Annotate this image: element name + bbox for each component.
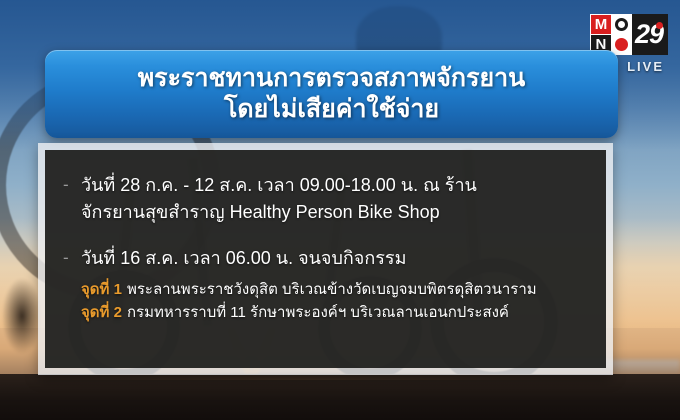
bullet-1-line-2: จักรยานสุขสำราญ Healthy Person Bike Shop [81, 199, 477, 226]
point-2-text: กรมทหารราบที่ 11 รักษาพระองค์ฯ บริเวณลาน… [127, 304, 509, 321]
logo-o-dot-red-icon [615, 38, 628, 51]
bullet-dash-icon: - [63, 172, 81, 198]
title-banner: พระราชทานการตรวจสภาพจักรยาน โดยไม่เสียค่… [45, 50, 618, 138]
logo-o-ring-black-icon [615, 18, 628, 31]
bullet-1-line-1: วันที่ 28 ก.ค. - 12 ส.ค. เวลา 09.00-18.0… [81, 172, 477, 199]
title-line-2: โดยไม่เสียค่าใช้จ่าย [224, 94, 439, 125]
info-panel-frame: - วันที่ 28 ก.ค. - 12 ส.ค. เวลา 09.00-18… [38, 143, 613, 375]
info-panel: - วันที่ 28 ก.ค. - 12 ส.ค. เวลา 09.00-18… [45, 150, 606, 368]
bullet-dash-icon: - [63, 245, 81, 271]
title-line-1: พระราชทานการตรวจสภาพจักรยาน [138, 63, 526, 94]
logo-red-dot-icon [656, 22, 663, 29]
logo-letter-o-bottom [612, 35, 632, 54]
point-item-1: จุดที่ 1พระลานพระราชวังดุสิต บริเวณข้างว… [81, 278, 588, 301]
mono-letter-grid: M N [590, 14, 633, 55]
logo-letter-m: M [591, 15, 611, 34]
bullet-2-line-1: วันที่ 16 ส.ค. เวลา 06.00 น. จนจบกิจกรรม [81, 245, 406, 272]
point-1-label: จุดที่ 1 [81, 281, 122, 298]
logo-number-29: 29 [632, 14, 668, 55]
bullet-spacer [63, 233, 588, 245]
bullet-item: - วันที่ 16 ส.ค. เวลา 06.00 น. จนจบกิจกร… [63, 245, 588, 272]
point-1-text: พระลานพระราชวังดุสิต บริเวณข้างวัดเบญจมบ… [127, 281, 537, 298]
logo-letter-o-top [612, 15, 632, 34]
point-item-2: จุดที่ 2กรมทหารราบที่ 11 รักษาพระองค์ฯ บ… [81, 301, 588, 324]
bullet-item: - วันที่ 28 ก.ค. - 12 ส.ค. เวลา 09.00-18… [63, 172, 588, 227]
broadcast-screen: M N 29 LIVE พระราชทานการตรวจสภาพจักรยาน … [0, 0, 680, 420]
point-2-label: จุดที่ 2 [81, 304, 122, 321]
bullet-text-block: วันที่ 28 ก.ค. - 12 ส.ค. เวลา 09.00-18.0… [81, 172, 477, 227]
bullet-text-block: วันที่ 16 ส.ค. เวลา 06.00 น. จนจบกิจกรรม [81, 245, 406, 272]
logo-marks: M N 29 [570, 14, 668, 55]
ground-silhouette [0, 374, 680, 420]
